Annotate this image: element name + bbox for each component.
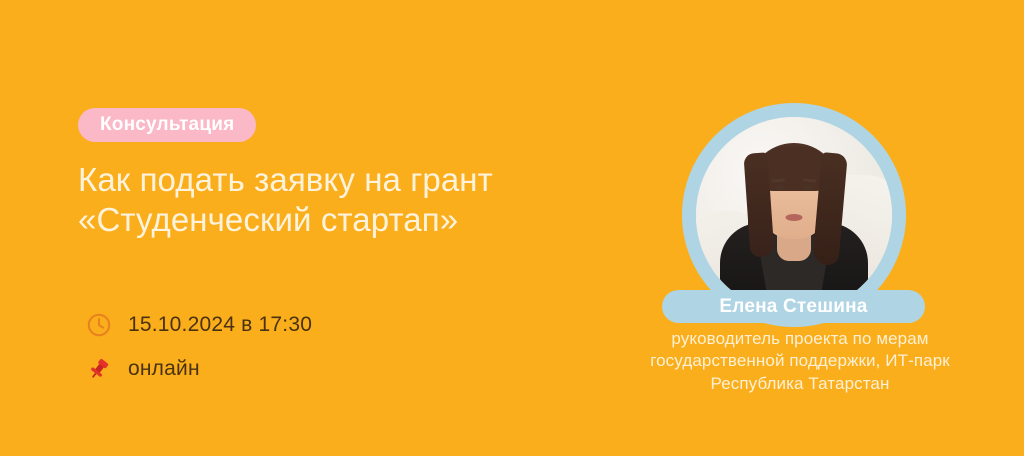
event-announcement-banner: Консультация Как подать заявку на грант …: [0, 0, 1024, 456]
speaker-role-line-3: Республика Татарстан: [590, 373, 1010, 395]
pushpin-icon: [86, 356, 112, 382]
event-datetime-text: 15.10.2024 в 17:30: [128, 313, 312, 337]
photo-eye-right: [804, 185, 813, 190]
speaker-role-line-2: государственной поддержки, ИТ-парк: [590, 350, 1010, 372]
speaker-photo: [696, 117, 892, 313]
event-format-row: онлайн: [86, 352, 506, 386]
event-title-line-1: Как подать заявку на грант: [78, 160, 618, 200]
event-meta-list: 15.10.2024 в 17:30 онлайн: [86, 308, 506, 396]
category-badge: Консультация: [78, 108, 256, 142]
speaker-name-badge: Елена Стешина: [662, 290, 925, 323]
event-format-text: онлайн: [128, 357, 200, 381]
speaker-role-line-1: руководитель проекта по мерам: [590, 328, 1010, 350]
event-title-line-2: «Студенческий стартап»: [78, 200, 618, 240]
event-datetime-row: 15.10.2024 в 17:30: [86, 308, 506, 342]
photo-eye-left: [775, 185, 784, 190]
clock-icon: [86, 312, 112, 338]
event-title: Как подать заявку на грант «Студенческий…: [78, 160, 618, 241]
photo-lips: [786, 214, 803, 221]
speaker-role: руководитель проекта по мерам государств…: [590, 328, 1010, 395]
event-info-column: Консультация Как подать заявку на грант …: [78, 108, 618, 241]
